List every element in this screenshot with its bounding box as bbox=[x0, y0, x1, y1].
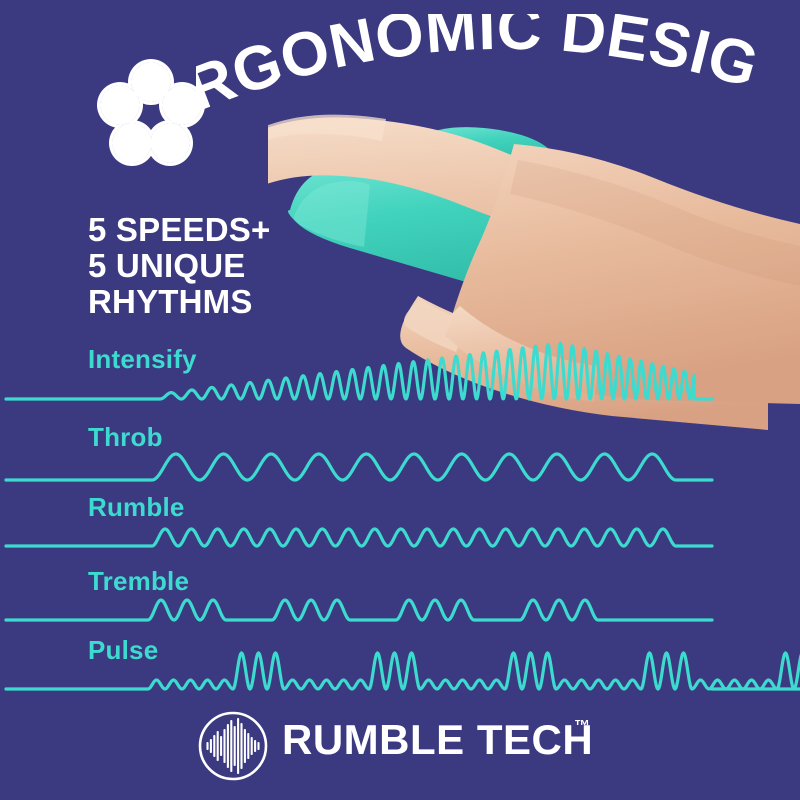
sound-wave-bar bbox=[234, 726, 236, 766]
sound-wave-bar bbox=[230, 720, 232, 772]
features-line-3: RHYTHMS bbox=[88, 284, 348, 320]
poster-canvas: ERGONOMIC DESIGN bbox=[0, 0, 800, 800]
footer-wordmark: RUMBLE TECH bbox=[282, 716, 593, 764]
sound-wave-bar bbox=[251, 737, 253, 755]
sound-wave-bar bbox=[223, 729, 225, 763]
sound-wave-bar bbox=[217, 731, 219, 761]
sound-wave-bar bbox=[257, 742, 259, 750]
waveform-path-pulse bbox=[0, 621, 800, 717]
sound-wave-bar bbox=[210, 739, 212, 753]
waveform-row-pulse: Pulse bbox=[0, 621, 800, 717]
sound-wave-bar bbox=[254, 740, 256, 752]
features-line-2: 5 UNIQUE bbox=[88, 248, 348, 284]
sound-wave-bar bbox=[247, 733, 249, 759]
sound-wave-bar bbox=[244, 729, 246, 763]
sound-wave-bar bbox=[220, 736, 222, 756]
five-circle-pentagon-logo bbox=[96, 58, 206, 168]
features-text: 5 SPEEDS+ 5 UNIQUE RHYTHMS bbox=[88, 212, 348, 320]
sound-wave-bar bbox=[206, 742, 208, 750]
sound-wave-bar bbox=[240, 723, 242, 769]
sound-wave-bar bbox=[237, 718, 239, 774]
sound-wave-bar bbox=[227, 724, 229, 768]
features-line-1: 5 SPEEDS+ bbox=[88, 212, 348, 248]
trademark-symbol: ™ bbox=[574, 718, 590, 736]
sound-wave-bars bbox=[206, 718, 259, 774]
sound-wave-bar bbox=[213, 735, 215, 757]
